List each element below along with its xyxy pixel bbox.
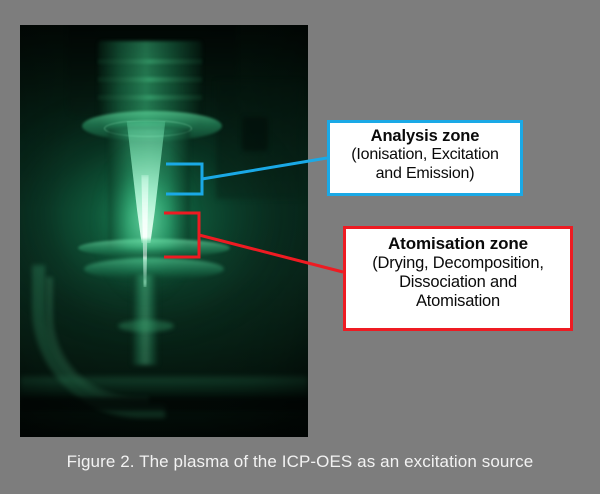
photo-vignette — [20, 25, 308, 437]
atomisation-zone-title: Atomisation zone — [346, 234, 570, 254]
atomisation-zone-line-3: Atomisation — [346, 292, 570, 311]
atomisation-zone-callout: Atomisation zone (Drying, Decomposition,… — [343, 226, 573, 331]
figure-container: Analysis zone (Ionisation, Excitation an… — [0, 0, 600, 494]
atomisation-zone-line-1: (Drying, Decomposition, — [346, 254, 570, 273]
plasma-photograph — [20, 25, 308, 437]
analysis-zone-title: Analysis zone — [330, 127, 520, 146]
analysis-zone-line-1: (Ionisation, Excitation — [330, 146, 520, 165]
atomisation-zone-line-2: Dissociation and — [346, 273, 570, 292]
analysis-zone-line-2: and Emission) — [330, 165, 520, 184]
figure-caption: Figure 2. The plasma of the ICP-OES as a… — [0, 452, 600, 472]
analysis-zone-callout: Analysis zone (Ionisation, Excitation an… — [327, 120, 523, 196]
